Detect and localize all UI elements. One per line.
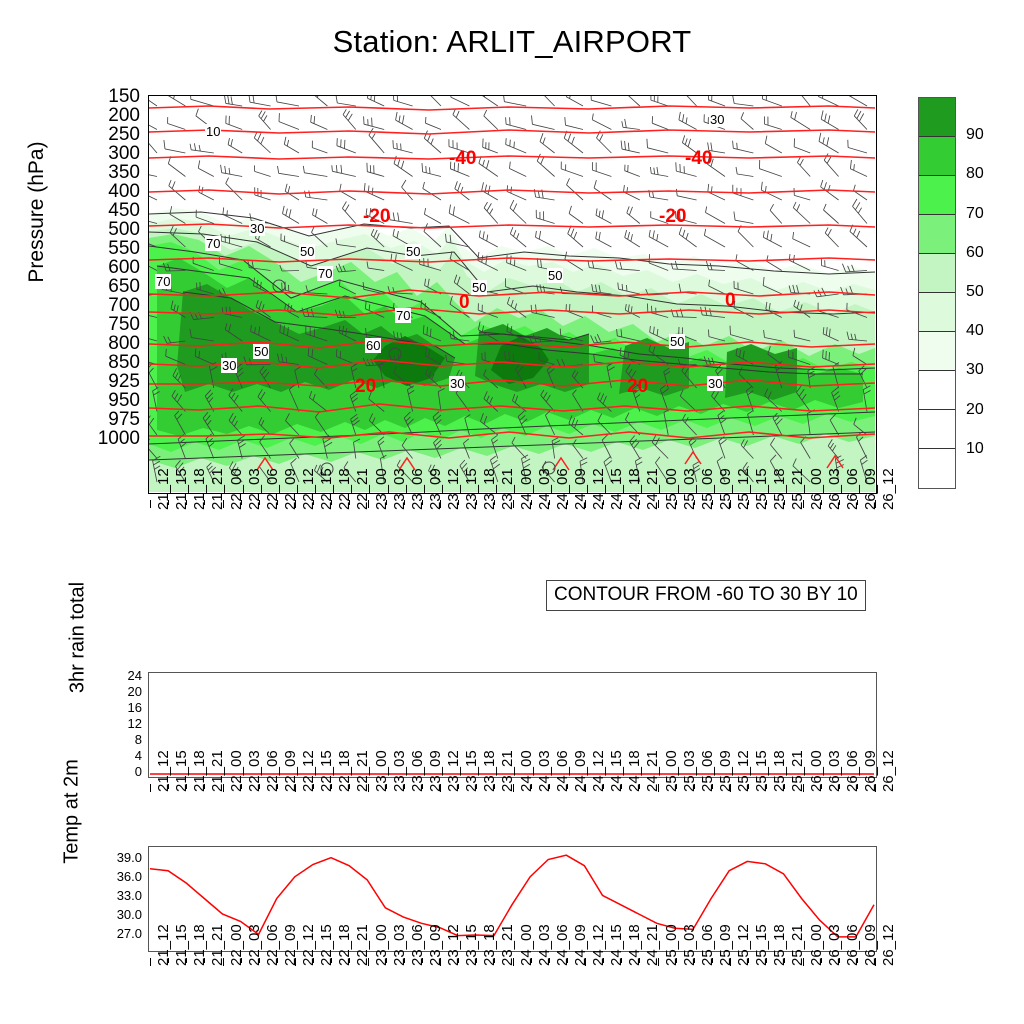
x-tick-mark <box>857 958 858 963</box>
x-tick-label: 25_03 <box>681 750 698 792</box>
x-tick-label: 24_03 <box>536 924 553 966</box>
main-y-tick: 300 <box>80 144 140 163</box>
main-y-tick: 350 <box>80 163 140 182</box>
x-tick-label: 26_03 <box>826 924 843 966</box>
x-tick-mark <box>549 958 550 963</box>
x-tick-mark <box>549 500 550 505</box>
x-tick-label: 26_03 <box>826 750 843 792</box>
x-tick-label: 22_06 <box>264 468 281 510</box>
x-tick-mark <box>386 958 387 963</box>
x-tick-mark <box>349 500 350 505</box>
x-tick-mark <box>186 500 187 505</box>
x-tick-mark <box>440 958 441 966</box>
rh-contour-label: 30 <box>449 376 465 391</box>
time-height-cross-section-plot[interactable]: 10 30 30 50 50 50 50 50 70 70 70 70 30 3… <box>148 95 877 494</box>
x-tick-label: 23_15 <box>463 924 480 966</box>
x-tick-mark <box>295 500 296 508</box>
x-tick-label: 23_21 <box>499 468 516 510</box>
x-tick-mark <box>694 784 695 789</box>
x-tick-label: 21_21 <box>209 924 226 966</box>
x-tick-label: 23_21 <box>499 750 516 792</box>
x-tick-label: 22_00 <box>228 750 245 792</box>
y-tick-label: 36.0 <box>90 870 142 883</box>
colorbar-tick: 70 <box>966 206 984 222</box>
x-tick-mark <box>458 958 459 963</box>
x-tick-label: 22_15 <box>318 750 335 792</box>
x-tick-mark <box>150 784 151 792</box>
x-tick-mark <box>712 958 713 963</box>
rh-contour-label: 70 <box>205 236 221 251</box>
x-tick-label: 26_09 <box>862 924 879 966</box>
y-tick-label: 4 <box>102 749 142 762</box>
rh-contour-label: 70 <box>317 266 333 281</box>
x-tick-label: 24_18 <box>626 750 643 792</box>
x-tick-label: 24_15 <box>608 924 625 966</box>
isotherm-label: 20 <box>627 376 648 398</box>
x-tick-label: 22_18 <box>336 750 353 792</box>
x-tick-label: 22_06 <box>264 924 281 966</box>
x-tick-mark <box>821 500 822 505</box>
main-y-tick: 975 <box>80 410 140 429</box>
x-tick-mark <box>603 784 604 789</box>
y-tick-label: 33.0 <box>90 889 142 902</box>
x-tick-mark <box>331 500 332 505</box>
main-x-tick-labels: 21_1221_1521_1821_2122_0022_0322_0622_09… <box>148 500 877 585</box>
x-tick-label: 24_15 <box>608 468 625 510</box>
x-tick-label: 21_18 <box>191 750 208 792</box>
x-tick-mark <box>241 500 242 505</box>
x-tick-mark <box>277 500 278 505</box>
main-y-tick: 925 <box>80 372 140 391</box>
x-tick-label: 23_06 <box>409 924 426 966</box>
x-tick-mark <box>875 784 876 792</box>
x-tick-label: 21_21 <box>209 750 226 792</box>
x-tick-mark <box>150 500 151 508</box>
colorbar-tick: 30 <box>966 362 984 378</box>
main-y-tick: 650 <box>80 277 140 296</box>
x-tick-label: 25_03 <box>681 468 698 510</box>
main-y-tick-labels: 1502002503003504004505005506006507007508… <box>78 95 140 494</box>
x-tick-mark <box>875 958 876 966</box>
x-tick-label: 23_15 <box>463 750 480 792</box>
rh-contour-label: 30 <box>221 358 237 373</box>
rain-x-tick-labels: 21_1221_1521_1821_2122_0022_0322_0622_09… <box>148 784 877 846</box>
main-y-axis-label: Pressure (hPa) <box>25 47 49 377</box>
x-tick-mark <box>186 784 187 789</box>
x-tick-label: 23_18 <box>481 468 498 510</box>
y-tick-label: 24 <box>102 669 142 682</box>
x-tick-label: 21_21 <box>209 468 226 510</box>
x-tick-mark <box>730 958 731 966</box>
main-y-tick: 750 <box>80 315 140 334</box>
x-tick-label: 25_12 <box>735 750 752 792</box>
x-tick-label: 23_18 <box>481 924 498 966</box>
x-tick-mark <box>223 500 224 508</box>
rh-contour-label: 50 <box>669 334 685 349</box>
x-tick-mark <box>476 958 477 963</box>
x-tick-mark <box>730 784 731 792</box>
colorbar-tick: 10 <box>966 441 984 457</box>
rh-contour-label: 70 <box>155 274 171 289</box>
x-tick-label: 25_21 <box>789 750 806 792</box>
x-tick-mark <box>603 958 604 963</box>
x-tick-mark <box>803 500 804 508</box>
x-tick-mark <box>476 784 477 789</box>
x-tick-mark <box>386 784 387 789</box>
x-tick-mark <box>839 784 840 789</box>
x-tick-mark <box>748 784 749 789</box>
x-tick-label: 22_09 <box>282 924 299 966</box>
x-tick-mark <box>621 500 622 505</box>
x-tick-mark <box>658 784 659 792</box>
x-tick-label: 24_21 <box>644 468 661 510</box>
x-tick-label: 26_09 <box>862 750 879 792</box>
x-tick-mark <box>567 784 568 789</box>
x-tick-mark <box>223 958 224 966</box>
y-tick-label: 39.0 <box>90 851 142 864</box>
rain-y-axis-label: 3hr rain total <box>67 538 90 738</box>
x-tick-label: 26_06 <box>844 750 861 792</box>
x-tick-mark <box>223 784 224 792</box>
x-tick-label: 24_09 <box>572 750 589 792</box>
x-tick-mark <box>821 958 822 963</box>
y-tick-label: 12 <box>102 717 142 730</box>
x-tick-mark <box>440 784 441 792</box>
x-tick-mark <box>204 500 205 505</box>
x-tick-label: 23_12 <box>445 750 462 792</box>
contour-interval-caption: CONTOUR FROM -60 TO 30 BY 10 <box>546 580 866 611</box>
rh-contour-label: 50 <box>471 280 487 295</box>
x-tick-label: 25_06 <box>699 468 716 510</box>
x-tick-mark <box>694 500 695 505</box>
rh-contour-label: 50 <box>547 268 563 283</box>
x-tick-mark <box>494 958 495 963</box>
main-y-tick: 150 <box>80 87 140 106</box>
x-tick-mark <box>766 784 767 789</box>
isotherm-label: -40 <box>685 148 712 170</box>
main-y-tick: 200 <box>80 106 140 125</box>
rh-contour-label: 50 <box>299 244 315 259</box>
main-y-tick: 700 <box>80 296 140 315</box>
x-tick-mark <box>839 958 840 963</box>
x-tick-mark <box>603 500 604 505</box>
x-tick-label: 23_12 <box>445 924 462 966</box>
x-tick-label: 24_12 <box>590 750 607 792</box>
colorbar-tick: 90 <box>966 127 984 143</box>
x-tick-label: 25_06 <box>699 924 716 966</box>
x-tick-label: 22_03 <box>246 468 263 510</box>
x-tick-mark <box>241 958 242 963</box>
x-tick-label: 21_15 <box>173 750 190 792</box>
rh-contour-label: 70 <box>395 308 411 323</box>
x-tick-mark <box>694 958 695 963</box>
x-tick-mark <box>621 958 622 963</box>
y-tick-label: 30.0 <box>90 908 142 921</box>
x-tick-mark <box>277 958 278 963</box>
x-tick-mark <box>621 784 622 789</box>
x-tick-mark <box>803 784 804 792</box>
x-tick-label: 22_15 <box>318 468 335 510</box>
x-tick-mark <box>404 500 405 505</box>
isotherm-label: -20 <box>659 206 686 228</box>
x-tick-mark <box>639 958 640 963</box>
isotherm-label: 0 <box>459 292 470 314</box>
x-tick-label: 25_09 <box>717 750 734 792</box>
x-tick-label: 22_18 <box>336 468 353 510</box>
x-tick-mark <box>639 500 640 505</box>
rh-contour-label: 50 <box>405 244 421 259</box>
x-tick-mark <box>204 784 205 789</box>
x-tick-label: 23_09 <box>427 750 444 792</box>
x-tick-mark <box>368 784 369 792</box>
colorbar-tick: 20 <box>966 402 984 418</box>
x-tick-mark <box>839 500 840 505</box>
x-tick-label: 22_09 <box>282 750 299 792</box>
x-tick-mark <box>784 958 785 963</box>
x-tick-label: 24_06 <box>554 468 571 510</box>
y-tick-label: 16 <box>102 701 142 714</box>
x-tick-mark <box>368 500 369 508</box>
x-tick-label: 25_18 <box>771 750 788 792</box>
x-tick-label: 26_03 <box>826 468 843 510</box>
colorbar-tick: 50 <box>966 284 984 300</box>
x-tick-label: 26_12 <box>880 750 897 792</box>
isotherm-label: 0 <box>725 290 736 312</box>
x-tick-label: 22_15 <box>318 924 335 966</box>
x-tick-mark <box>241 784 242 789</box>
x-tick-label: 23_12 <box>445 468 462 510</box>
x-tick-label: 22_00 <box>228 924 245 966</box>
x-tick-mark <box>331 784 332 789</box>
x-tick-label: 24_03 <box>536 468 553 510</box>
x-tick-label: 26_12 <box>880 924 897 966</box>
x-tick-mark <box>259 784 260 789</box>
y-tick-label: 8 <box>102 733 142 746</box>
x-tick-mark <box>875 500 876 508</box>
x-tick-label: 23_03 <box>391 750 408 792</box>
x-tick-label: 21_15 <box>173 468 190 510</box>
x-tick-label: 26_00 <box>808 750 825 792</box>
x-tick-label: 24_12 <box>590 924 607 966</box>
rh-contour-label: 30 <box>249 221 265 236</box>
x-tick-label: 23_09 <box>427 468 444 510</box>
x-tick-label: 26_09 <box>862 468 879 510</box>
x-tick-label: 25_00 <box>663 750 680 792</box>
x-tick-label: 21_12 <box>155 468 172 510</box>
main-y-tick: 250 <box>80 125 140 144</box>
x-tick-mark <box>150 958 151 966</box>
x-tick-mark <box>821 784 822 789</box>
x-tick-label: 23_00 <box>373 468 390 510</box>
x-tick-mark <box>712 784 713 789</box>
page-title: Station: ARLIT_AIRPORT <box>0 24 1024 60</box>
x-tick-mark <box>513 784 514 792</box>
x-tick-label: 23_06 <box>409 468 426 510</box>
main-y-tick: 600 <box>80 258 140 277</box>
x-tick-mark <box>168 958 169 963</box>
isotherm-label: -20 <box>363 206 390 228</box>
x-tick-mark <box>676 784 677 789</box>
x-tick-label: 23_00 <box>373 924 390 966</box>
x-tick-label: 25_15 <box>753 924 770 966</box>
temp-x-tick-labels: 21_1221_1521_1821_2122_0022_0322_0622_09… <box>148 958 877 1020</box>
x-tick-label: 26_00 <box>808 468 825 510</box>
x-tick-label: 26_06 <box>844 924 861 966</box>
x-tick-mark <box>803 958 804 966</box>
x-tick-label: 24_00 <box>518 924 535 966</box>
x-tick-mark <box>422 784 423 789</box>
x-tick-label: 24_00 <box>518 468 535 510</box>
x-tick-mark <box>422 500 423 505</box>
x-tick-mark <box>531 958 532 963</box>
isotherm-label: -40 <box>449 148 476 170</box>
x-tick-label: 22_12 <box>300 924 317 966</box>
x-tick-label: 24_06 <box>554 750 571 792</box>
x-tick-mark <box>676 500 677 505</box>
x-tick-label: 24_15 <box>608 750 625 792</box>
x-tick-mark <box>766 958 767 963</box>
x-tick-label: 21_15 <box>173 924 190 966</box>
rh-contour-label: 10 <box>205 124 221 139</box>
x-tick-label: 23_21 <box>499 924 516 966</box>
rain-y-tick-labels: 24201612840 <box>100 672 142 778</box>
x-tick-label: 23_09 <box>427 924 444 966</box>
x-tick-mark <box>585 784 586 792</box>
x-tick-mark <box>658 958 659 966</box>
rh-contour-label: 30 <box>707 376 723 391</box>
colorbar-tick: 80 <box>966 166 984 182</box>
x-tick-label: 24_21 <box>644 924 661 966</box>
x-tick-mark <box>494 500 495 505</box>
x-tick-label: 22_21 <box>354 468 371 510</box>
x-tick-label: 24_18 <box>626 468 643 510</box>
x-tick-mark <box>277 784 278 789</box>
x-tick-label: 22_06 <box>264 750 281 792</box>
x-tick-label: 23_15 <box>463 468 480 510</box>
x-tick-label: 23_03 <box>391 468 408 510</box>
x-tick-mark <box>567 958 568 963</box>
x-tick-mark <box>313 958 314 963</box>
x-tick-mark <box>422 958 423 963</box>
x-tick-mark <box>313 500 314 505</box>
x-tick-mark <box>386 500 387 505</box>
x-tick-mark <box>513 500 514 508</box>
x-tick-mark <box>857 500 858 505</box>
x-tick-label: 25_18 <box>771 924 788 966</box>
x-tick-label: 23_06 <box>409 750 426 792</box>
x-tick-label: 22_18 <box>336 924 353 966</box>
x-tick-label: 23_03 <box>391 924 408 966</box>
x-tick-label: 25_09 <box>717 924 734 966</box>
x-tick-label: 25_12 <box>735 468 752 510</box>
x-tick-label: 25_06 <box>699 750 716 792</box>
x-tick-label: 22_12 <box>300 468 317 510</box>
x-tick-label: 22_03 <box>246 924 263 966</box>
x-tick-label: 22_00 <box>228 468 245 510</box>
x-tick-label: 24_18 <box>626 924 643 966</box>
x-tick-mark <box>567 500 568 505</box>
x-tick-mark <box>458 500 459 505</box>
x-tick-mark <box>658 500 659 508</box>
main-y-tick: 400 <box>80 182 140 201</box>
x-tick-label: 21_12 <box>155 924 172 966</box>
x-tick-label: 23_00 <box>373 750 390 792</box>
x-tick-mark <box>331 958 332 963</box>
x-tick-label: 25_03 <box>681 924 698 966</box>
x-tick-label: 25_00 <box>663 924 680 966</box>
x-tick-mark <box>349 958 350 963</box>
x-tick-mark <box>404 958 405 963</box>
main-y-tick: 950 <box>80 391 140 410</box>
x-tick-label: 21_18 <box>191 924 208 966</box>
main-y-tick: 800 <box>80 334 140 353</box>
x-tick-mark <box>458 784 459 789</box>
x-tick-mark <box>766 500 767 505</box>
rh-contour-label: 60 <box>365 338 381 353</box>
x-tick-mark <box>349 784 350 789</box>
y-tick-label: 27.0 <box>90 927 142 940</box>
x-tick-label: 22_21 <box>354 924 371 966</box>
x-tick-mark <box>313 784 314 789</box>
x-tick-label: 21_12 <box>155 750 172 792</box>
main-y-tick: 450 <box>80 201 140 220</box>
x-tick-label: 26_00 <box>808 924 825 966</box>
x-tick-mark <box>168 500 169 505</box>
isotherm-label: 20 <box>355 376 376 398</box>
x-tick-mark <box>549 784 550 789</box>
x-tick-label: 23_18 <box>481 750 498 792</box>
x-tick-mark <box>295 784 296 792</box>
x-tick-label: 25_12 <box>735 924 752 966</box>
y-tick-label: 20 <box>102 685 142 698</box>
x-tick-mark <box>513 958 514 966</box>
main-y-tick: 550 <box>80 239 140 258</box>
x-tick-mark <box>204 958 205 963</box>
x-tick-mark <box>440 500 441 508</box>
colorbar-tick-labels: 908070605040302010 <box>918 97 1018 489</box>
rh-contour-label: 50 <box>253 344 269 359</box>
x-tick-label: 22_03 <box>246 750 263 792</box>
x-tick-label: 25_00 <box>663 468 680 510</box>
x-tick-label: 24_12 <box>590 468 607 510</box>
x-tick-mark <box>295 958 296 966</box>
x-tick-label: 26_12 <box>880 468 897 510</box>
x-tick-mark <box>585 500 586 508</box>
temp-y-tick-labels: 39.036.033.030.027.0 <box>88 846 142 952</box>
x-tick-label: 24_09 <box>572 924 589 966</box>
x-tick-mark <box>784 500 785 505</box>
temp-y-axis-label: Temp at 2m <box>61 712 84 912</box>
x-tick-mark <box>531 500 532 505</box>
x-tick-mark <box>748 500 749 505</box>
x-tick-mark <box>676 958 677 963</box>
x-tick-label: 26_06 <box>844 468 861 510</box>
x-tick-mark <box>168 784 169 789</box>
x-tick-mark <box>404 784 405 789</box>
x-tick-label: 25_15 <box>753 468 770 510</box>
x-tick-label: 24_21 <box>644 750 661 792</box>
x-tick-label: 24_09 <box>572 468 589 510</box>
cross-section-svg <box>149 96 875 492</box>
x-tick-mark <box>494 784 495 789</box>
x-tick-label: 25_15 <box>753 750 770 792</box>
x-tick-label: 24_03 <box>536 750 553 792</box>
main-y-tick: 500 <box>80 220 140 239</box>
main-y-tick: 1000 <box>80 429 140 448</box>
x-tick-label: 22_21 <box>354 750 371 792</box>
x-tick-mark <box>857 784 858 789</box>
x-tick-mark <box>712 500 713 505</box>
